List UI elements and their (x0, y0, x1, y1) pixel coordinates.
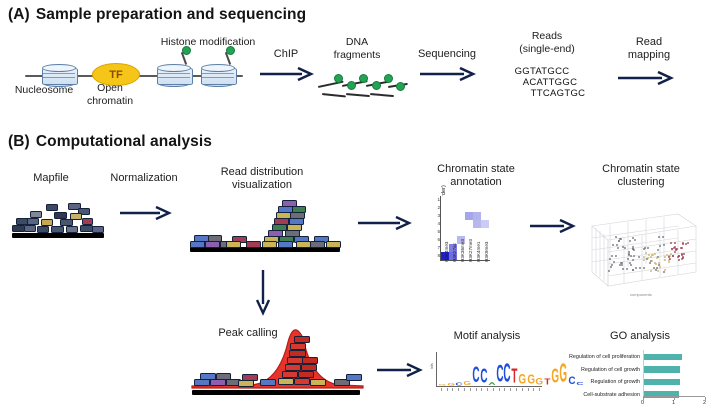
read-mapping-line2: mapping (611, 49, 687, 62)
cluster-point (664, 259, 666, 261)
read-mapping-label: Read mapping (611, 36, 687, 61)
logo-tick (528, 388, 529, 391)
cluster-point (676, 248, 678, 250)
arrow-to-annotation (356, 215, 412, 231)
cluster-point (632, 248, 634, 250)
logo-tick (493, 388, 494, 391)
cluster-point (663, 244, 665, 246)
logo-letter: C (480, 366, 488, 386)
heatmap-cell (465, 212, 473, 220)
logo-tick (452, 388, 453, 391)
logo-tick (533, 388, 534, 391)
cluster-point (650, 270, 652, 272)
logo-tick (441, 388, 442, 391)
panel-a-title-text: Sample preparation and sequencing (36, 6, 306, 23)
chromatin-state-annotation-label: Chromatin state annotation (413, 163, 539, 188)
go-bar-row: Regulation of cell proliferation (548, 352, 708, 362)
chromatin-state-clustering-label: Chromatin state clustering (578, 163, 704, 188)
reads-label: Reads (single-end) (499, 30, 595, 55)
heatmap-column-label: H3K9me3 (484, 242, 489, 262)
go-tick-label: 0 (641, 400, 644, 406)
logo-letter: G (527, 373, 536, 386)
annotation-line2: annotation (413, 176, 539, 189)
cluster-point (626, 268, 628, 270)
go-bar (643, 354, 682, 361)
cluster-point (620, 238, 622, 240)
heatmap-column-label: H3K4me3 (444, 242, 449, 262)
clustering-axis-caption: components (630, 292, 652, 297)
genome-axis (192, 390, 360, 395)
arrow-to-peak-calling (255, 268, 271, 316)
logo-tick (476, 388, 477, 391)
arrow-sequencing (418, 66, 476, 82)
cluster-point (630, 264, 632, 266)
cluster-point (657, 270, 659, 272)
arrow-normalization (118, 205, 172, 221)
go-bar-row: Regulation of growth (548, 377, 708, 387)
panel-b-tag: (B) (8, 133, 30, 151)
cluster-point (659, 245, 661, 247)
cluster-point (610, 266, 612, 268)
cluster-point (632, 237, 634, 239)
nucleosome-icon (201, 64, 235, 87)
reads-line2: (single-end) (499, 43, 595, 56)
logo-tick (470, 388, 471, 391)
logo-tick (487, 388, 488, 391)
cluster-point (685, 243, 687, 245)
histone-modification-label: Histone modification (143, 36, 273, 49)
genome-axis (12, 233, 104, 238)
cluster-point (670, 242, 672, 244)
cluster-point (630, 255, 632, 257)
dna-fragments-label: DNA fragments (320, 36, 394, 61)
cluster-point (639, 267, 641, 269)
cluster-point (683, 253, 685, 255)
cluster-point (619, 238, 621, 240)
cluster-point (654, 253, 656, 255)
go-bar-row: Regulation of cell growth (548, 365, 708, 375)
go-category-label: Regulation of growth (548, 379, 643, 385)
cluster-point (643, 256, 645, 258)
cluster-point (649, 262, 651, 264)
logo-tick (510, 388, 511, 391)
cluster-point (658, 262, 660, 264)
cluster-point (657, 249, 659, 251)
cluster-point (650, 256, 652, 258)
cluster-point (664, 269, 666, 271)
logo-letter: C (496, 362, 504, 386)
cluster-point (615, 255, 617, 257)
logo-letter: G (463, 381, 472, 386)
cluster-point (644, 247, 646, 249)
arrow-to-motif (375, 362, 423, 378)
go-bar (643, 366, 680, 373)
logo-tick (539, 388, 540, 391)
logo-tick (499, 388, 500, 391)
cluster-point (613, 261, 615, 263)
panel-b-title: (B)Computational analysis (8, 133, 212, 151)
logo-tick (522, 388, 523, 391)
cluster-point (678, 255, 680, 257)
read-distribution-graphic (186, 196, 346, 256)
cluster-point (611, 255, 613, 257)
go-bar (643, 379, 680, 386)
logo-letter: C (503, 360, 511, 386)
cluster-point (608, 270, 610, 272)
cluster-point (638, 256, 640, 258)
cluster-point (663, 271, 665, 273)
cluster-point (647, 247, 649, 249)
go-category-label: Regulation of cell proliferation (548, 354, 643, 360)
heatmap-column-label: H3K27me3 (468, 239, 473, 262)
logo-letter: G (518, 373, 527, 387)
cluster-point (658, 236, 660, 238)
cluster-point (687, 242, 689, 244)
histone-mark-icon (384, 74, 393, 83)
heatmap-row-label: 7 (432, 244, 440, 252)
cluster-point (674, 242, 676, 244)
histone-mark-icon (359, 74, 368, 83)
heatmap-cell (481, 220, 489, 228)
cluster-point (662, 236, 664, 238)
go-tick-label: 1 (672, 400, 675, 406)
cluster-point (681, 247, 683, 249)
cluster-point (648, 254, 650, 256)
cluster-point (615, 236, 617, 238)
histone-mark-icon (347, 81, 356, 90)
go-analysis-chart: Regulation of cell proliferationRegulati… (548, 352, 708, 404)
cluster-point (669, 258, 671, 260)
logo-position-ticks (438, 388, 542, 396)
cluster-point (632, 269, 634, 271)
open-chromatin-line2: chromatin (72, 95, 148, 108)
clustering-line1: Chromatin state (578, 163, 704, 176)
panel-a-tag: (A) (8, 6, 30, 24)
cluster-point (621, 264, 623, 266)
read-sequence-1: GGTATGCC (485, 66, 599, 77)
arrow-read-mapping (616, 70, 674, 86)
cluster-point (622, 268, 624, 270)
cluster-point (629, 262, 631, 264)
heatmap-cell (473, 212, 481, 220)
cluster-point (656, 257, 658, 259)
heatmap-column-label: H3K36me3 (460, 239, 465, 262)
logo-tick (481, 388, 482, 391)
logo-letter: G (438, 384, 447, 386)
go-category-label: Cell-substrate adhesion (548, 392, 643, 398)
cluster-point (659, 266, 661, 268)
sequencing-label: Sequencing (410, 48, 484, 61)
cluster-point (617, 247, 619, 249)
heatmap-row-label: 4 (432, 220, 440, 228)
logo-letter-stack: GGCGCCACCTGGGTGGCC (438, 352, 542, 386)
read-mapping-line1: Read (611, 36, 687, 49)
go-axis-ticks: 012 (643, 397, 705, 407)
cluster-point (643, 259, 645, 261)
motif-ylabel: bits (430, 354, 434, 378)
read-distribution-line2: visualization (196, 179, 328, 192)
logo-tick (458, 388, 459, 391)
chromatin-state-heatmap: State (Emission order) 12345678 H3K4me3H… (424, 192, 520, 302)
mapfile-graphic (10, 200, 110, 242)
heatmap-row-label: 6 (432, 236, 440, 244)
cluster-point (674, 251, 676, 253)
histone-mark-icon (334, 74, 343, 83)
logo-letter: C (472, 364, 480, 386)
cluster-point (643, 267, 645, 269)
heatmap-row-label: 1 (432, 196, 440, 204)
arrow-to-clustering (528, 218, 576, 234)
histone-mark-icon (396, 82, 405, 91)
go-tick-label: 2 (703, 400, 706, 406)
read-distribution-label: Read distribution visualization (196, 166, 328, 191)
read-distribution-line1: Read distribution (196, 166, 328, 179)
cluster-point (632, 259, 634, 261)
go-category-label: Regulation of cell growth (548, 367, 643, 373)
arrow-chip (258, 66, 314, 82)
open-chromatin-label: Open chromatin (72, 82, 148, 107)
cluster-point (672, 255, 674, 257)
panel-b-title-text: Computational analysis (36, 133, 212, 150)
motif-analysis-label: Motif analysis (432, 330, 542, 343)
mapfile-label: Mapfile (14, 172, 88, 185)
annotation-line1: Chromatin state (413, 163, 539, 176)
heatmap-row-label: 8 (432, 252, 440, 260)
logo-letter: G (535, 377, 544, 386)
heatmap-row-label: 2 (432, 204, 440, 212)
cluster-point (664, 256, 666, 258)
logo-letter: C (455, 382, 463, 386)
logo-letter: A (488, 381, 496, 386)
logo-letter: G (447, 383, 456, 386)
normalization-label: Normalization (98, 172, 190, 185)
go-bar-rows: Regulation of cell proliferationRegulati… (548, 352, 708, 400)
cluster-point (678, 259, 680, 261)
cluster-point (668, 261, 670, 263)
dna-fragments-line1: DNA (320, 36, 394, 49)
panel-a-title: (A)Sample preparation and sequencing (8, 6, 306, 24)
peak-calling-graphic (190, 322, 365, 402)
cluster-point (612, 244, 614, 246)
clustering-3d-plot: components (578, 196, 706, 302)
cluster-point (634, 239, 636, 241)
cluster-point (627, 258, 629, 260)
heatmap-row-label: 3 (432, 212, 440, 220)
heatmap-column-label: H3K27ac (452, 243, 457, 262)
cluster-point (609, 258, 611, 260)
cluster-point (629, 240, 631, 242)
heatmap-column-label: H3K4me1 (476, 242, 481, 262)
cluster-point (624, 247, 626, 249)
heatmap-row-labels: 12345678 (432, 196, 440, 260)
logo-letter: T (511, 366, 518, 386)
cluster-point (633, 255, 635, 257)
nucleosome-icon (157, 64, 191, 87)
go-analysis-label: GO analysis (600, 330, 680, 343)
dna-fragments-line2: fragments (320, 49, 394, 62)
read-sequences: GGTATGCC ACATTGGC TTCAGTGC (499, 66, 599, 99)
clustering-line2: clustering (578, 176, 704, 189)
logo-tick (516, 388, 517, 391)
read-sequence-2: ACATTGGC (501, 77, 599, 88)
cluster-point (651, 260, 653, 262)
cluster-point (674, 246, 676, 248)
cluster-point-layer (578, 196, 706, 302)
heatmap-cell (473, 220, 481, 228)
reads-line1: Reads (499, 30, 595, 43)
cluster-point (616, 244, 618, 246)
histone-mark-icon (372, 81, 381, 90)
logo-tick (464, 388, 465, 391)
logo-tick (447, 388, 448, 391)
read-sequence-3: TTCAGTGC (517, 88, 599, 99)
cluster-point (645, 252, 647, 254)
motif-sequence-logo: bits GGCGCCACCTGGGTGGCC (428, 350, 546, 400)
logo-tick (504, 388, 505, 391)
cluster-point (682, 243, 684, 245)
heatmap-row-label: 5 (432, 228, 440, 236)
cluster-point (647, 257, 649, 259)
cluster-point (635, 267, 637, 269)
dna-fragments-graphic (318, 70, 408, 104)
cluster-point (628, 253, 630, 255)
open-chromatin-line1: Open (72, 82, 148, 95)
chip-label: ChIP (263, 48, 309, 61)
